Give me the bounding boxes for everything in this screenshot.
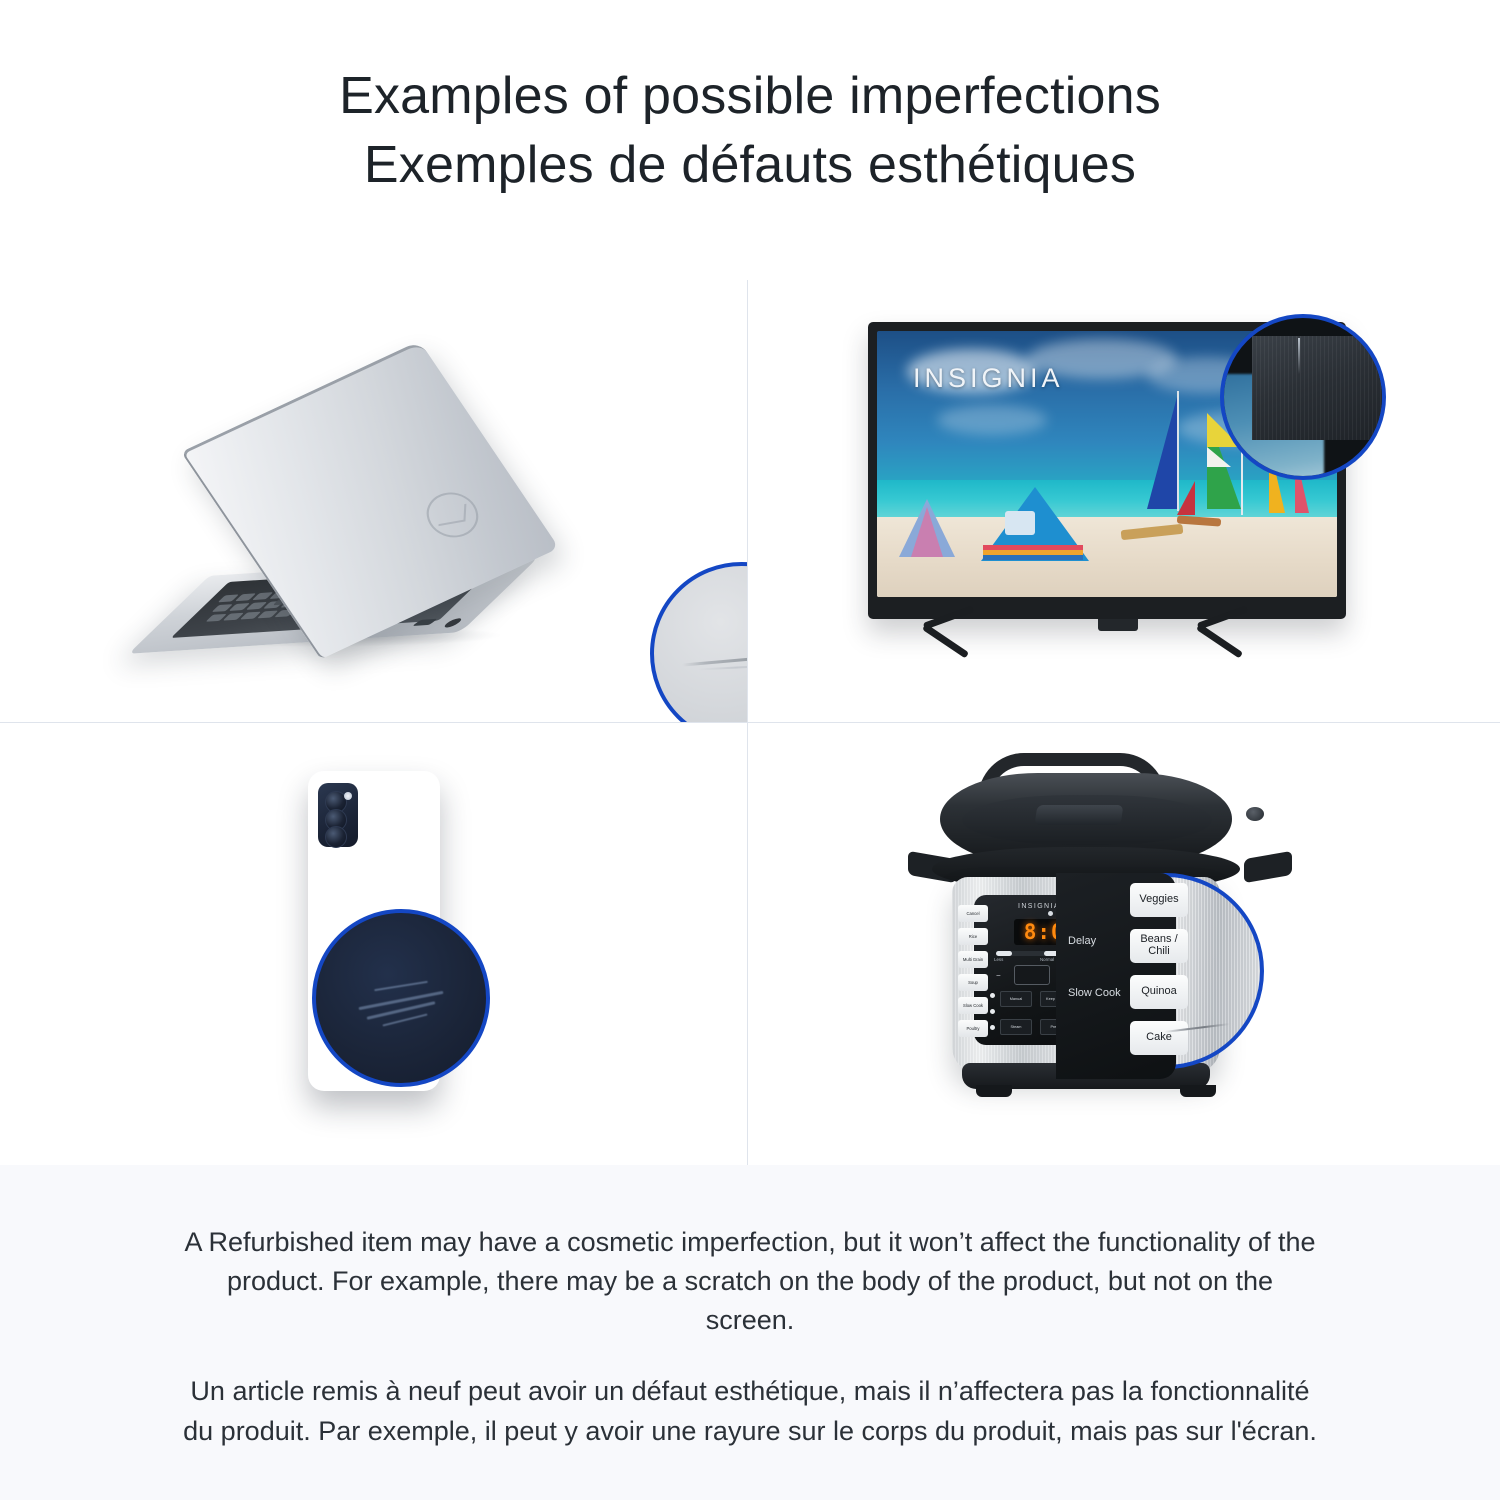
page-footer: A Refurbished item may have a cosmetic i… — [0, 1165, 1500, 1500]
television-illustration: INSIGNIA — [748, 280, 1500, 722]
smartphone-scratch-mark — [359, 991, 444, 1010]
cooker-button[interactable]: Soup — [958, 974, 988, 991]
cooker-zoom-buttons: Veggies Beans / Chili Quinoa Cake — [1130, 883, 1188, 1067]
laptop-magnifier-circle — [650, 562, 748, 723]
cooker-button[interactable]: Cancel — [958, 905, 988, 922]
cooker-indicator-light — [1048, 911, 1053, 916]
cooker-foot-right — [1180, 1085, 1216, 1097]
page-title-en: Examples of possible imperfections — [339, 62, 1161, 131]
refurbished-imperfections-infographic: Examples of possible imperfections Exemp… — [0, 0, 1500, 1500]
television-brand-logo: INSIGNIA — [913, 363, 1064, 394]
pressure-cooker-magnifier-circle: Delay Slow Cook Veggies Beans / Chili Qu… — [1068, 873, 1264, 1069]
cooker-button[interactable]: Rice — [958, 928, 988, 945]
cooker-zoom-button[interactable]: Veggies — [1130, 883, 1188, 917]
cooker-zoom-label: Slow Cook — [1068, 987, 1122, 999]
cooker-pressure-valve-icon — [1035, 805, 1124, 825]
cooker-button[interactable]: Manual — [1000, 991, 1032, 1007]
cooker-minus-button[interactable]: − — [996, 971, 1001, 980]
camera-flash-icon — [344, 792, 352, 800]
television-leg-right — [1198, 619, 1290, 671]
cooker-foot-left — [976, 1085, 1012, 1097]
cooker-zoom-button[interactable]: Cake — [1130, 1021, 1188, 1055]
cooker-button[interactable]: Poultry — [958, 1020, 988, 1037]
cooker-zoom-button[interactable]: Beans / Chili — [1130, 929, 1188, 963]
pressure-cooker-illustration: INSIGNIA 8:00 Less Normal Mor — [748, 723, 1500, 1165]
television-zoom-bezel — [1252, 336, 1386, 440]
cooker-side-handle-right — [1244, 851, 1292, 883]
footer-paragraph-fr: Un article remis à neuf peut avoir un dé… — [180, 1372, 1320, 1450]
smartphone-camera-module-icon — [318, 783, 358, 847]
cooker-zoom-label: Delay — [1068, 935, 1122, 947]
smartphone-scratch-mark — [382, 1013, 427, 1026]
example-cell-smartphone — [0, 723, 748, 1165]
cooker-left-button-column: Cancel Rice Multi Grain Soup Slow Cook P… — [958, 905, 988, 1041]
cooker-display-button[interactable] — [1014, 965, 1050, 985]
example-cell-pressure-cooker: INSIGNIA 8:00 Less Normal Mor — [748, 723, 1500, 1165]
cooker-button[interactable]: Steam — [1000, 1019, 1032, 1035]
television-center-mount — [1098, 619, 1138, 631]
cooker-button[interactable]: Multi Grain — [958, 951, 988, 968]
laptop-illustration — [0, 280, 747, 722]
cooker-zoom-button[interactable]: Quinoa — [1130, 975, 1188, 1009]
smartphone-magnifier-circle — [312, 909, 490, 1087]
laptop-scratch-mark — [682, 652, 748, 666]
television-bezel-scuff-mark — [1298, 338, 1300, 374]
smartphone-figure — [290, 771, 470, 1121]
cooker-zoom-left-labels: Delay Slow Cook — [1068, 935, 1122, 1039]
camera-lens-icon — [325, 826, 347, 848]
cooker-brand-logo: INSIGNIA — [1018, 903, 1060, 910]
television-leg-left — [924, 619, 1016, 671]
page-header: Examples of possible imperfections Exemp… — [0, 0, 1500, 280]
television-magnifier-circle — [1220, 314, 1386, 480]
laptop-audio-port-icon — [441, 618, 464, 628]
cooker-button[interactable]: Slow Cook — [958, 997, 988, 1014]
examples-grid: INSIGNIA — [0, 280, 1500, 1165]
television-figure: INSIGNIA — [868, 322, 1368, 692]
example-cell-television: INSIGNIA — [748, 280, 1500, 723]
laptop-figure — [180, 375, 540, 665]
footer-paragraph-en: A Refurbished item may have a cosmetic i… — [180, 1223, 1320, 1340]
page-title-fr: Exemples de défauts esthétiques — [364, 131, 1136, 200]
smartphone-scratch-mark — [374, 981, 428, 991]
example-cell-laptop — [0, 280, 748, 723]
smartphone-illustration — [0, 723, 747, 1165]
cooker-float-valve-icon — [1246, 807, 1264, 821]
pressure-cooker-figure: INSIGNIA 8:00 Less Normal Mor — [918, 751, 1278, 1111]
